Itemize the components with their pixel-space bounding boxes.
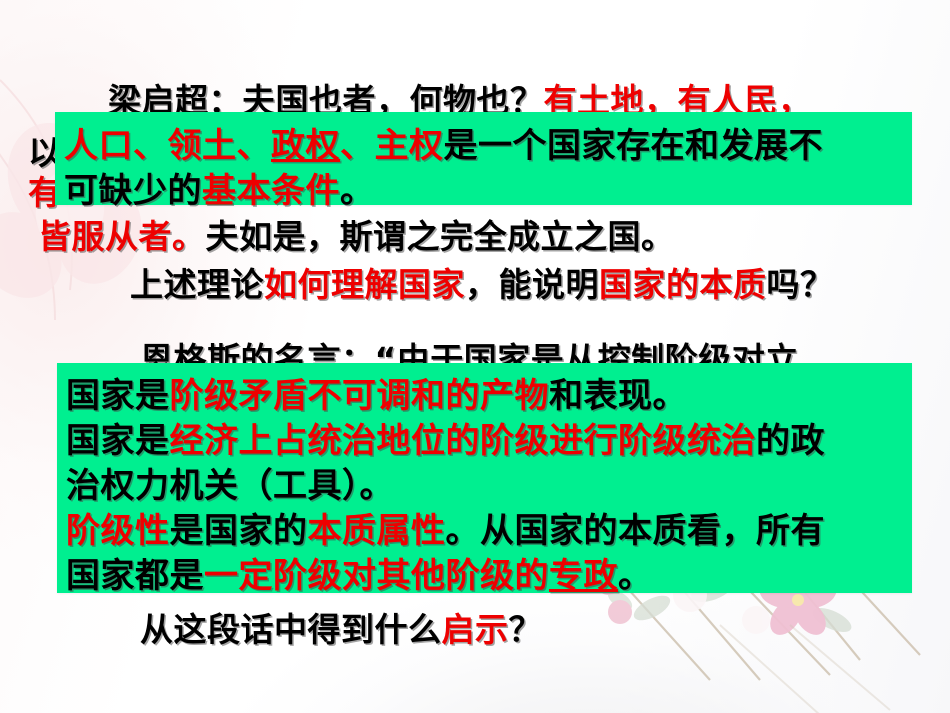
question-black-c: 吗？	[767, 265, 834, 304]
green2-line-4-red-b: 本质属性	[308, 511, 446, 551]
green1-line-1-red-a: 人口、领土、	[64, 126, 271, 166]
green2-line-1-black-b: 和表现。	[549, 376, 687, 416]
question-black-a: 上述理论	[130, 265, 264, 304]
liang-quote-line-4: 皆服从者。夫如是，斯谓之完全成立之国。	[38, 210, 675, 258]
green1-line-1-red-b: 、主权	[340, 126, 444, 166]
green2-line-5-red-underlined: 专政	[549, 556, 618, 596]
closing-question-black-b: ？	[509, 610, 543, 649]
liang-quote-line-4-black: 夫如是，斯谓之完全成立之国。	[206, 217, 675, 256]
green2-line-4-black-a: 是国家的	[170, 511, 308, 551]
green2-line-4: 阶级性是国家的本质属性。从国家的本质看，所有	[66, 503, 825, 552]
green1-line-1: 人口、领土、政权、主权是一个国家存在和发展不	[64, 118, 823, 167]
closing-question-red: 启示	[442, 610, 509, 649]
green2-line-2-black-a: 国家是	[66, 421, 170, 461]
green1-line-2-black-a: 可缺少的	[64, 171, 202, 211]
slide-canvas: 梁启超：夫国也者，何物也？有土地，有人民， 以 有 皆服从者。夫如是，斯谓之完全…	[0, 0, 950, 713]
green2-line-3: 治权力机关（工具）。	[66, 458, 394, 507]
green2-line-5: 国家都是一定阶级对其他阶级的专政。	[66, 548, 653, 597]
green2-line-2-black-b: 的政	[756, 421, 825, 461]
question-red-b: 国家的本质	[599, 265, 767, 304]
floral-watermark-corner	[700, 620, 950, 713]
green2-line-5-black-a: 国家都是	[66, 556, 204, 596]
green-annotation-box-1: 人口、领土、政权、主权是一个国家存在和发展不 可缺少的基本条件。	[55, 112, 912, 205]
green2-line-1-black-a: 国家是	[66, 376, 170, 416]
green2-line-5-black-b: 。	[618, 556, 653, 596]
green1-line-2-red: 基本条件	[202, 171, 340, 211]
green1-line-1-black: 是一个国家存在和发展不	[444, 126, 824, 166]
green2-line-1-red: 阶级矛盾不可调和的产物	[170, 376, 550, 416]
closing-question-line: 从这段话中得到什么启示？	[140, 603, 542, 651]
green2-line-2: 国家是经济上占统治地位的阶级进行阶级统治的政	[66, 413, 825, 462]
green2-line-2-red: 经济上占统治地位的阶级进行阶级统治	[170, 421, 757, 461]
liang-quote-line-4-red: 皆服从者。	[38, 217, 206, 256]
question-black-b: ，能说明	[465, 265, 599, 304]
green2-line-5-red-a: 一定阶级对其他阶级的	[204, 556, 549, 596]
liang-quote-question-line: 上述理论如何理解国家，能说明国家的本质吗？	[130, 258, 834, 306]
green1-line-2-black-b: 。	[340, 171, 375, 211]
green2-line-4-red-a: 阶级性	[66, 511, 170, 551]
green1-line-2: 可缺少的基本条件。	[64, 163, 375, 212]
green2-line-4-black-b: 。从国家的本质看，所有	[446, 511, 826, 551]
question-red-a: 如何理解国家	[264, 265, 465, 304]
green2-line-1: 国家是阶级矛盾不可调和的产物和表现。	[66, 368, 687, 417]
green1-line-1-red-underlined: 政权	[271, 126, 340, 166]
closing-question-black-a: 从这段话中得到什么	[140, 610, 442, 649]
green-annotation-box-2: 国家是阶级矛盾不可调和的产物和表现。 国家是经济上占统治地位的阶级进行阶级统治的…	[57, 363, 912, 593]
